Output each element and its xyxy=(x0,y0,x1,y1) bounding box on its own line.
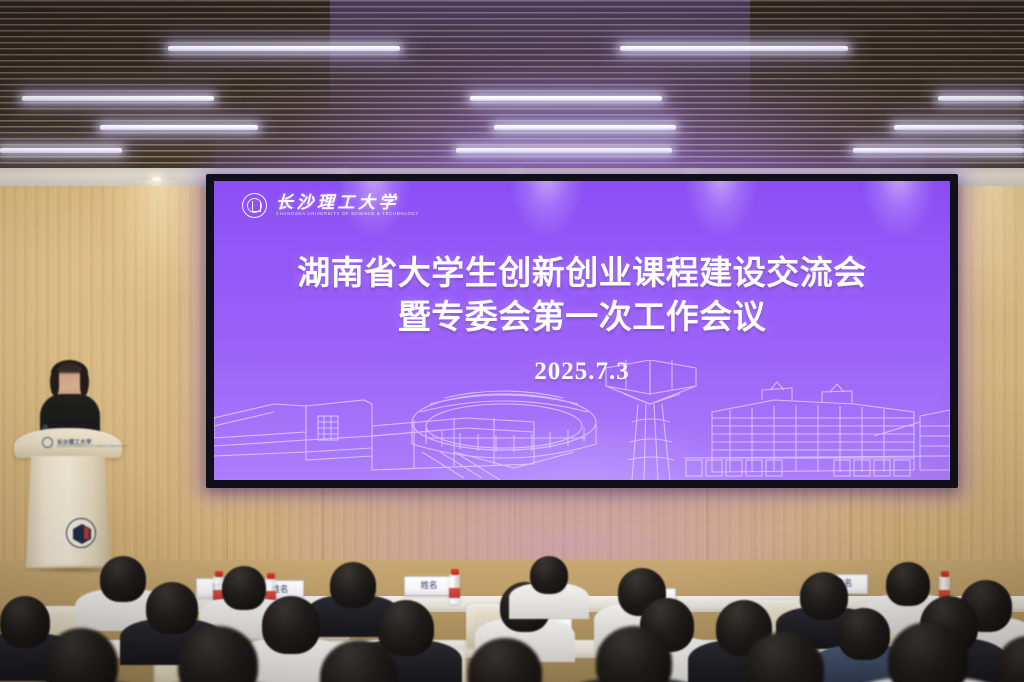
conference-hall-photo: 长沙理工大学 CHANGSHA UNIVERSITY OF SCIENCE & … xyxy=(0,0,1024,682)
university-name-en: CHANGSHA UNIVERSITY OF SCIENCE & TECHNOL… xyxy=(276,212,419,216)
bottle-cap xyxy=(215,571,223,577)
ceiling-led-strip xyxy=(938,96,1024,101)
ceiling-led-strip xyxy=(22,96,214,101)
university-seal-icon xyxy=(42,437,53,448)
slide-title-line-2: 暨专委会第一次工作会议 xyxy=(214,297,950,341)
ceiling-led-strip xyxy=(853,148,1024,153)
name-placard-text: 姓名 xyxy=(405,579,453,591)
audience-member-head xyxy=(146,582,198,634)
audience-member-head xyxy=(530,556,568,594)
audience-member-head xyxy=(800,572,848,620)
audience-member-head xyxy=(262,596,320,654)
audience-member-head xyxy=(100,556,146,602)
podium-front-panel xyxy=(26,456,110,568)
slide-title: 湖南省大学生创新创业课程建设交流会 暨专委会第一次工作会议 xyxy=(214,253,950,341)
audience-member-head xyxy=(378,600,434,656)
bottle-label xyxy=(449,588,460,598)
podium-top-panel: 长沙理工大学 CHANGSHA UNIVERSITY OF SCIENCE & … xyxy=(14,428,122,458)
ceiling-led-strip xyxy=(168,46,400,51)
led-screen-bezel: 长沙理工大学 CHANGSHA UNIVERSITY OF SCIENCE & … xyxy=(206,174,958,488)
ceiling-led-strip xyxy=(0,148,122,153)
ceiling xyxy=(0,0,1024,172)
audience-member-head xyxy=(886,562,930,606)
name-placard: 姓名 xyxy=(404,576,454,596)
led-screen-display: 长沙理工大学 CHANGSHA UNIVERSITY OF SCIENCE & … xyxy=(214,181,950,480)
ceiling-led-strip xyxy=(470,96,662,101)
bottle-cap xyxy=(267,573,275,579)
ceiling-led-strip xyxy=(456,148,672,153)
podium: 长沙理工大学 CHANGSHA UNIVERSITY OF SCIENCE & … xyxy=(14,428,122,568)
screen-university-brand: 长沙理工大学 CHANGSHA UNIVERSITY OF SCIENCE & … xyxy=(242,193,419,218)
water-bottle xyxy=(449,574,460,604)
ceiling-led-strip xyxy=(100,125,258,130)
slide-title-line-1: 湖南省大学生创新创业课程建设交流会 xyxy=(214,253,950,297)
ceiling-purple-reflection-core xyxy=(330,0,750,120)
podium-university-name-en: CHANGSHA UNIVERSITY OF SCIENCE & TECHNOL… xyxy=(57,445,129,448)
audience-member-head xyxy=(0,596,50,648)
university-name-cn: 长沙理工大学 xyxy=(276,194,419,211)
bottle-cap xyxy=(941,571,949,577)
soffit-downlight xyxy=(152,177,161,181)
speaker-hair-left xyxy=(50,370,59,396)
bottle-cap xyxy=(451,569,459,575)
campus-skyline-line-art xyxy=(214,360,950,480)
audience-member-head xyxy=(222,566,266,610)
speaker-hair-right xyxy=(80,370,89,396)
university-seal-icon xyxy=(242,193,267,218)
ceiling-led-strip xyxy=(494,125,676,130)
ceiling-led-strip xyxy=(894,125,1024,130)
ceiling-led-strip xyxy=(620,46,848,51)
audience-member-head xyxy=(330,562,376,608)
hexagon-monogram-emblem-icon xyxy=(66,518,96,548)
audience-member-head xyxy=(838,608,890,660)
